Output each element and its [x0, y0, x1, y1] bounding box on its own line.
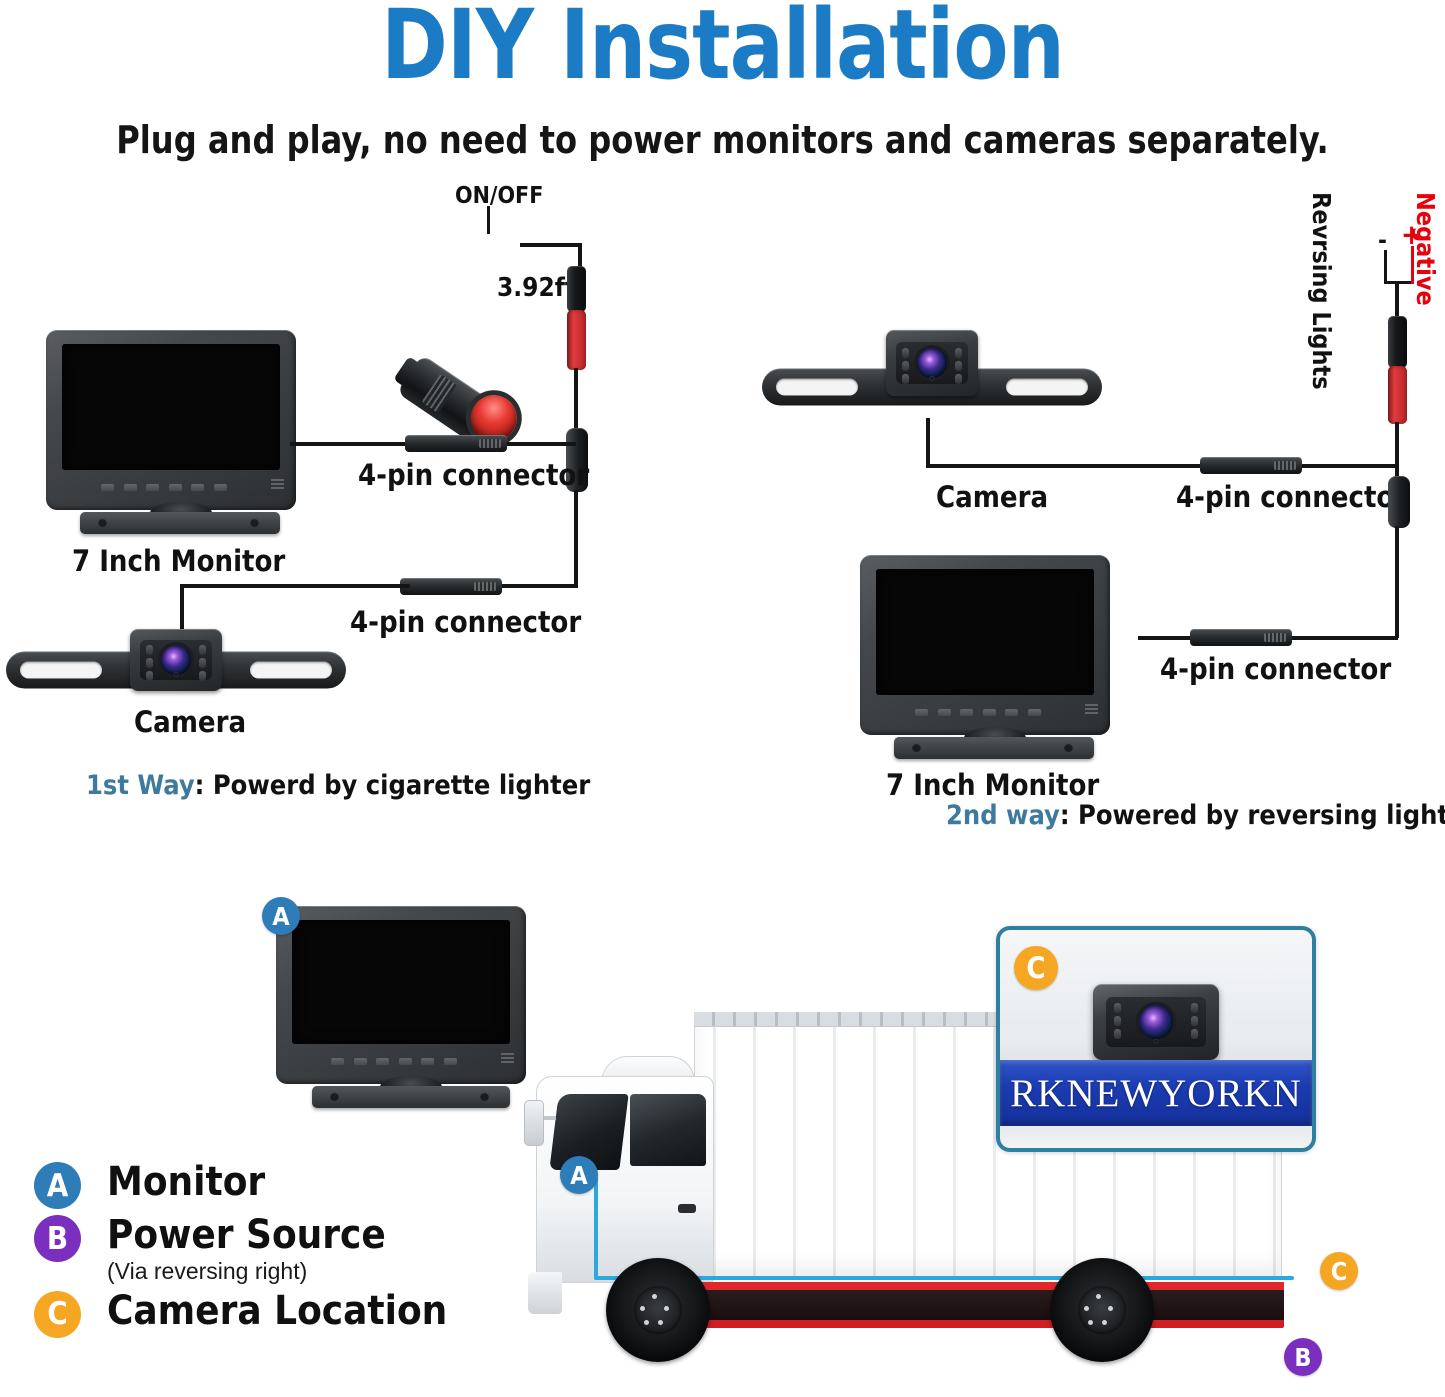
camera-lens-icon	[917, 348, 947, 378]
mount-hole	[250, 518, 259, 527]
barrel-connector-red-way2	[1388, 366, 1407, 424]
caption-key-second: 2nd way	[946, 800, 1060, 831]
plug-wire-horizontal	[520, 243, 582, 247]
monitor-button[interactable]	[1005, 709, 1018, 716]
badge-b-truck-rear: B	[1284, 1338, 1322, 1376]
monitor-label-way2: 7 Inch Monitor	[886, 768, 1099, 802]
camera-faceplate	[896, 342, 968, 384]
monitor-button[interactable]	[444, 1058, 457, 1065]
monitor-button[interactable]	[191, 484, 204, 491]
reversing-wire-down	[1395, 281, 1399, 319]
four-pin-connector-bottom	[400, 578, 502, 595]
caption-rest-first: : Powerd by cigarette lighter	[195, 770, 591, 801]
diagram-second-way: Revrsing Lights Negative - +	[740, 180, 1445, 840]
monitor-screen	[292, 920, 510, 1044]
monitor-button[interactable]	[915, 709, 928, 716]
camera-label-way2: Camera	[936, 480, 1048, 514]
splitter-wire-down-way2	[1395, 526, 1399, 638]
monitor-device-overview	[276, 906, 526, 1084]
splitter-wire-down	[574, 490, 578, 586]
monitor-button[interactable]	[146, 484, 159, 491]
camera-device-way1	[6, 635, 346, 705]
caption-rest-second: : Powered by reversing lights	[1060, 800, 1445, 831]
badge-c-truck-rear: C	[1320, 1252, 1358, 1290]
four-pin-connector-label-top: 4-pin connector	[358, 458, 589, 492]
camera-housing	[886, 330, 978, 396]
mount-hole	[912, 743, 921, 752]
monitor-button-row	[898, 705, 1058, 719]
bracket-slot-left	[776, 379, 858, 396]
four-pin-connector-bottom-way2	[1190, 629, 1292, 646]
monitor-screen	[62, 344, 280, 470]
legend-label-power-source: Power Source	[107, 1215, 386, 1256]
truck-chassis-rail	[684, 1282, 1284, 1290]
barrel-connector-red	[567, 310, 586, 370]
monitor-button[interactable]	[421, 1058, 434, 1065]
diagram-first-way: ON/OFF 3.92ft	[0, 180, 640, 820]
legend-badge-b: B	[34, 1215, 81, 1262]
inset-camera-faceplate	[1106, 997, 1207, 1047]
monitor-button[interactable]	[1028, 709, 1041, 716]
page-subtitle: Plug and play, no need to power monitors…	[43, 118, 1401, 162]
monitor-button[interactable]	[331, 1058, 344, 1065]
camera-location-inset: C RKNEWYORKN	[996, 926, 1316, 1152]
badge-a-truck-cab: A	[560, 1156, 598, 1194]
polarity-bridge	[1384, 281, 1414, 284]
caption-first-way: 1st Way: Powerd by cigarette lighter	[86, 770, 590, 801]
camera-label-way1: Camera	[134, 705, 246, 739]
monitor-button[interactable]	[938, 709, 951, 716]
monitor-speaker-grille	[1085, 704, 1098, 714]
legend-badge-a: A	[34, 1162, 81, 1209]
four-pin-connector-label-bottom-way2: 4-pin connector	[1160, 652, 1391, 686]
four-pin-connector-label-top-way2: 4-pin connector	[1176, 480, 1407, 514]
inset-camera-mic-icon	[1153, 1039, 1158, 1044]
barrel-connector-black-way2	[1388, 316, 1407, 368]
legend-sub-power-source: (Via reversing right)	[107, 1258, 386, 1285]
onoff-leader-line	[487, 206, 490, 234]
monitor-device-way1	[46, 330, 296, 510]
mount-hole	[1064, 743, 1073, 752]
monitor-device-way2	[860, 555, 1110, 735]
monitor-button[interactable]	[960, 709, 973, 716]
monitor-button-row	[314, 1054, 474, 1068]
power-wire-down-way2	[1395, 422, 1399, 478]
truck-front-wheel	[606, 1258, 710, 1362]
power-wire-down	[574, 368, 578, 430]
camera-wire-vertical-way2	[926, 418, 930, 468]
mount-hole	[98, 518, 107, 527]
bracket-slot-right	[1006, 379, 1088, 396]
cable-length-label: 3.92ft	[497, 273, 576, 303]
monitor-button[interactable]	[399, 1058, 412, 1065]
badge-c-inset: C	[1014, 946, 1058, 990]
truck-side-window	[630, 1094, 706, 1166]
legend-item-camera-location: C Camera Location	[34, 1291, 554, 1338]
bracket-slot-left	[20, 662, 102, 679]
barrel-connector-black	[567, 266, 586, 312]
caption-key-first: 1st Way	[86, 770, 195, 801]
legend-badge-c: C	[34, 1291, 81, 1338]
truck-side-mirror	[524, 1100, 544, 1146]
monitor-speaker-grille	[271, 479, 284, 489]
route-line-cab	[594, 1176, 598, 1280]
onoff-label: ON/OFF	[455, 183, 543, 209]
monitor-button[interactable]	[354, 1058, 367, 1065]
monitor-button-row	[84, 480, 244, 494]
monitor-label-way1: 7 Inch Monitor	[72, 544, 285, 578]
monitor-button[interactable]	[983, 709, 996, 716]
monitor-button[interactable]	[124, 484, 137, 491]
legend-label-monitor: Monitor	[107, 1162, 265, 1203]
monitor-button[interactable]	[376, 1058, 389, 1065]
positive-lead	[1411, 246, 1414, 284]
camera-wire-horizontal	[180, 584, 410, 588]
camera-mic-icon	[930, 376, 935, 381]
negative-lead	[1384, 250, 1387, 284]
mount-hole	[330, 1092, 339, 1101]
truck-door-handle	[678, 1204, 696, 1213]
caption-second-way: 2nd way: Powered by reversing lights	[946, 800, 1445, 831]
monitor-button[interactable]	[169, 484, 182, 491]
inset-license-plate-text: RKNEWYORKN	[1010, 1071, 1302, 1116]
legend-label-camera-location: Camera Location	[107, 1291, 447, 1332]
four-pin-connector-top	[405, 435, 507, 452]
legend: A Monitor B Power Source (Via reversing …	[34, 1162, 554, 1344]
truck-underbody	[684, 1290, 1284, 1320]
plug-wire-vertical	[578, 243, 582, 268]
mount-hole	[480, 1092, 489, 1101]
inset-license-plate: RKNEWYORKN	[1000, 1060, 1312, 1126]
camera-device-way2	[762, 352, 1102, 422]
page-title: DIY Installation	[51, 0, 1395, 98]
monitor-button[interactable]	[101, 484, 114, 491]
bracket-slot-right	[250, 662, 332, 679]
camera-housing	[130, 629, 222, 691]
camera-mic-icon	[174, 672, 179, 677]
reversing-lights-label: Revrsing Lights	[1307, 192, 1336, 390]
badge-a-monitor: A	[262, 897, 300, 935]
four-pin-connector-label-bottom: 4-pin connector	[350, 605, 581, 639]
infographic-canvas: DIY Installation Plug and play, no need …	[0, 0, 1445, 1397]
monitor-screen	[876, 569, 1094, 695]
monitor-button[interactable]	[214, 484, 227, 491]
four-pin-connector-top-way2	[1200, 457, 1302, 474]
inset-camera-lens-icon	[1139, 1005, 1173, 1039]
camera-lens-icon	[161, 645, 191, 675]
cable-splitter-box-way2	[1388, 476, 1410, 528]
inset-camera-housing	[1093, 984, 1219, 1060]
truck-rear-wheel	[1050, 1258, 1154, 1362]
legend-item-power-source: B Power Source (Via reversing right)	[34, 1215, 554, 1285]
camera-wire-horizontal-way2	[926, 464, 1398, 468]
legend-item-monitor: A Monitor	[34, 1162, 554, 1209]
camera-faceplate	[140, 640, 212, 680]
